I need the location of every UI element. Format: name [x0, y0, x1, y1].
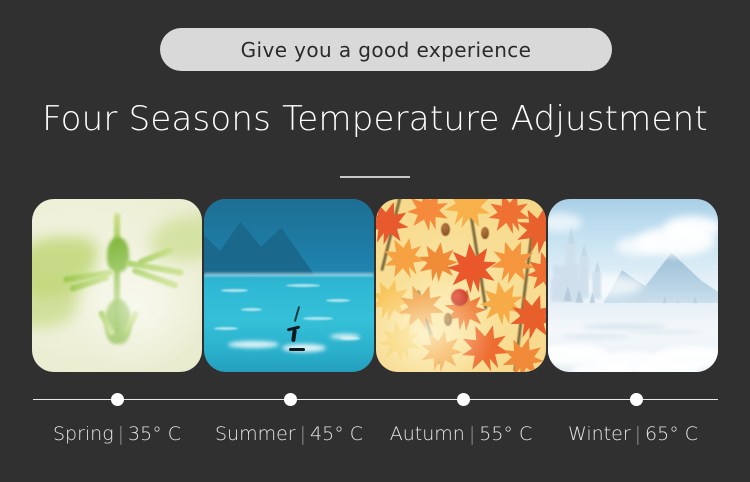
season-label-spring: Spring|35° C	[32, 420, 202, 450]
winter-photo	[548, 199, 718, 372]
season-separator-autumn: |	[465, 423, 479, 445]
timeline-track	[33, 399, 718, 400]
timeline-dot-spring[interactable]	[111, 393, 124, 406]
season-card-autumn[interactable]	[376, 199, 546, 372]
season-separator-winter: |	[631, 423, 645, 445]
season-card-summer[interactable]	[204, 199, 374, 372]
season-card-row	[32, 199, 718, 372]
tagline-badge: Give you a good experience	[160, 28, 612, 71]
season-card-winter[interactable]	[548, 199, 718, 372]
season-temp-spring: 35° C	[128, 423, 181, 445]
spring-photo	[32, 199, 202, 372]
timeline-dot-summer[interactable]	[284, 393, 297, 406]
season-name-winter: Winter	[568, 423, 631, 445]
season-name-summer: Summer	[215, 423, 296, 445]
timeline-dot-autumn[interactable]	[457, 393, 470, 406]
four-seasons-banner: Give you a good experience Four Seasons …	[0, 0, 750, 482]
tagline-text: Give you a good experience	[241, 38, 532, 62]
page-title: Four Seasons Temperature Adjustment	[0, 97, 750, 141]
timeline-dot-winter[interactable]	[630, 393, 643, 406]
season-temp-autumn: 55° C	[479, 423, 532, 445]
season-temp-summer: 45° C	[310, 423, 363, 445]
season-separator-spring: |	[114, 423, 128, 445]
autumn-photo	[376, 199, 546, 372]
season-name-spring: Spring	[53, 423, 114, 445]
season-label-row: Spring|35° C Summer|45° C Autumn|55° C W…	[32, 420, 718, 450]
season-label-autumn: Autumn|55° C	[376, 420, 546, 450]
season-name-autumn: Autumn	[390, 423, 465, 445]
season-label-winter: Winter|65° C	[548, 420, 718, 450]
section-divider	[340, 176, 410, 178]
season-label-summer: Summer|45° C	[204, 420, 374, 450]
season-temp-winter: 65° C	[645, 423, 698, 445]
season-separator-summer: |	[296, 423, 310, 445]
season-card-spring[interactable]	[32, 199, 202, 372]
summer-photo	[204, 199, 374, 372]
